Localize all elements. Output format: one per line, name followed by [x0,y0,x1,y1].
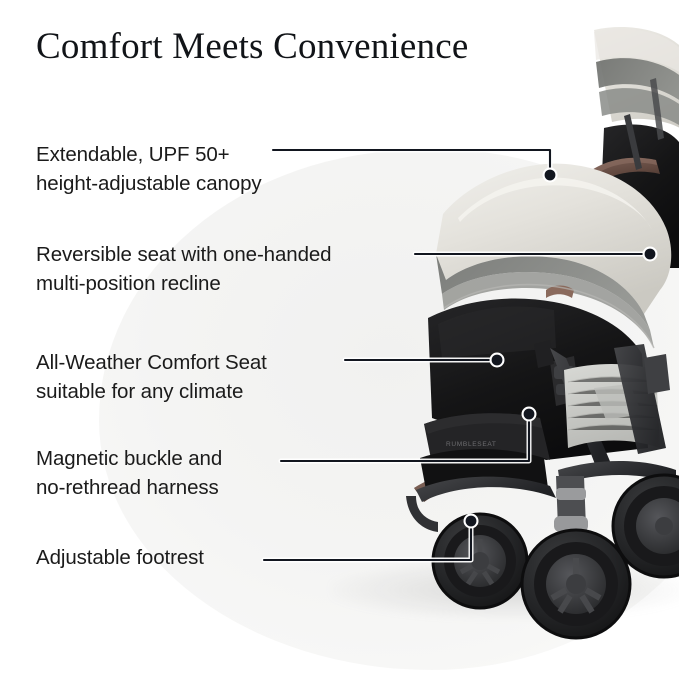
callout-dot-canopy [545,170,556,181]
callout-dot-footrest [466,516,477,527]
callout-dot-comfort-seat [492,355,503,366]
callout-dot-magnetic-buckle [524,409,535,420]
leader-line-canopy [273,150,550,175]
infographic-canvas: RUMBLESEAT [0,0,679,679]
callout-dot-reversible-seat [645,249,656,260]
leader-line-magnetic-buckle [281,414,529,461]
callout-leader-lines [0,0,679,679]
leader-line-footrest [264,521,471,560]
